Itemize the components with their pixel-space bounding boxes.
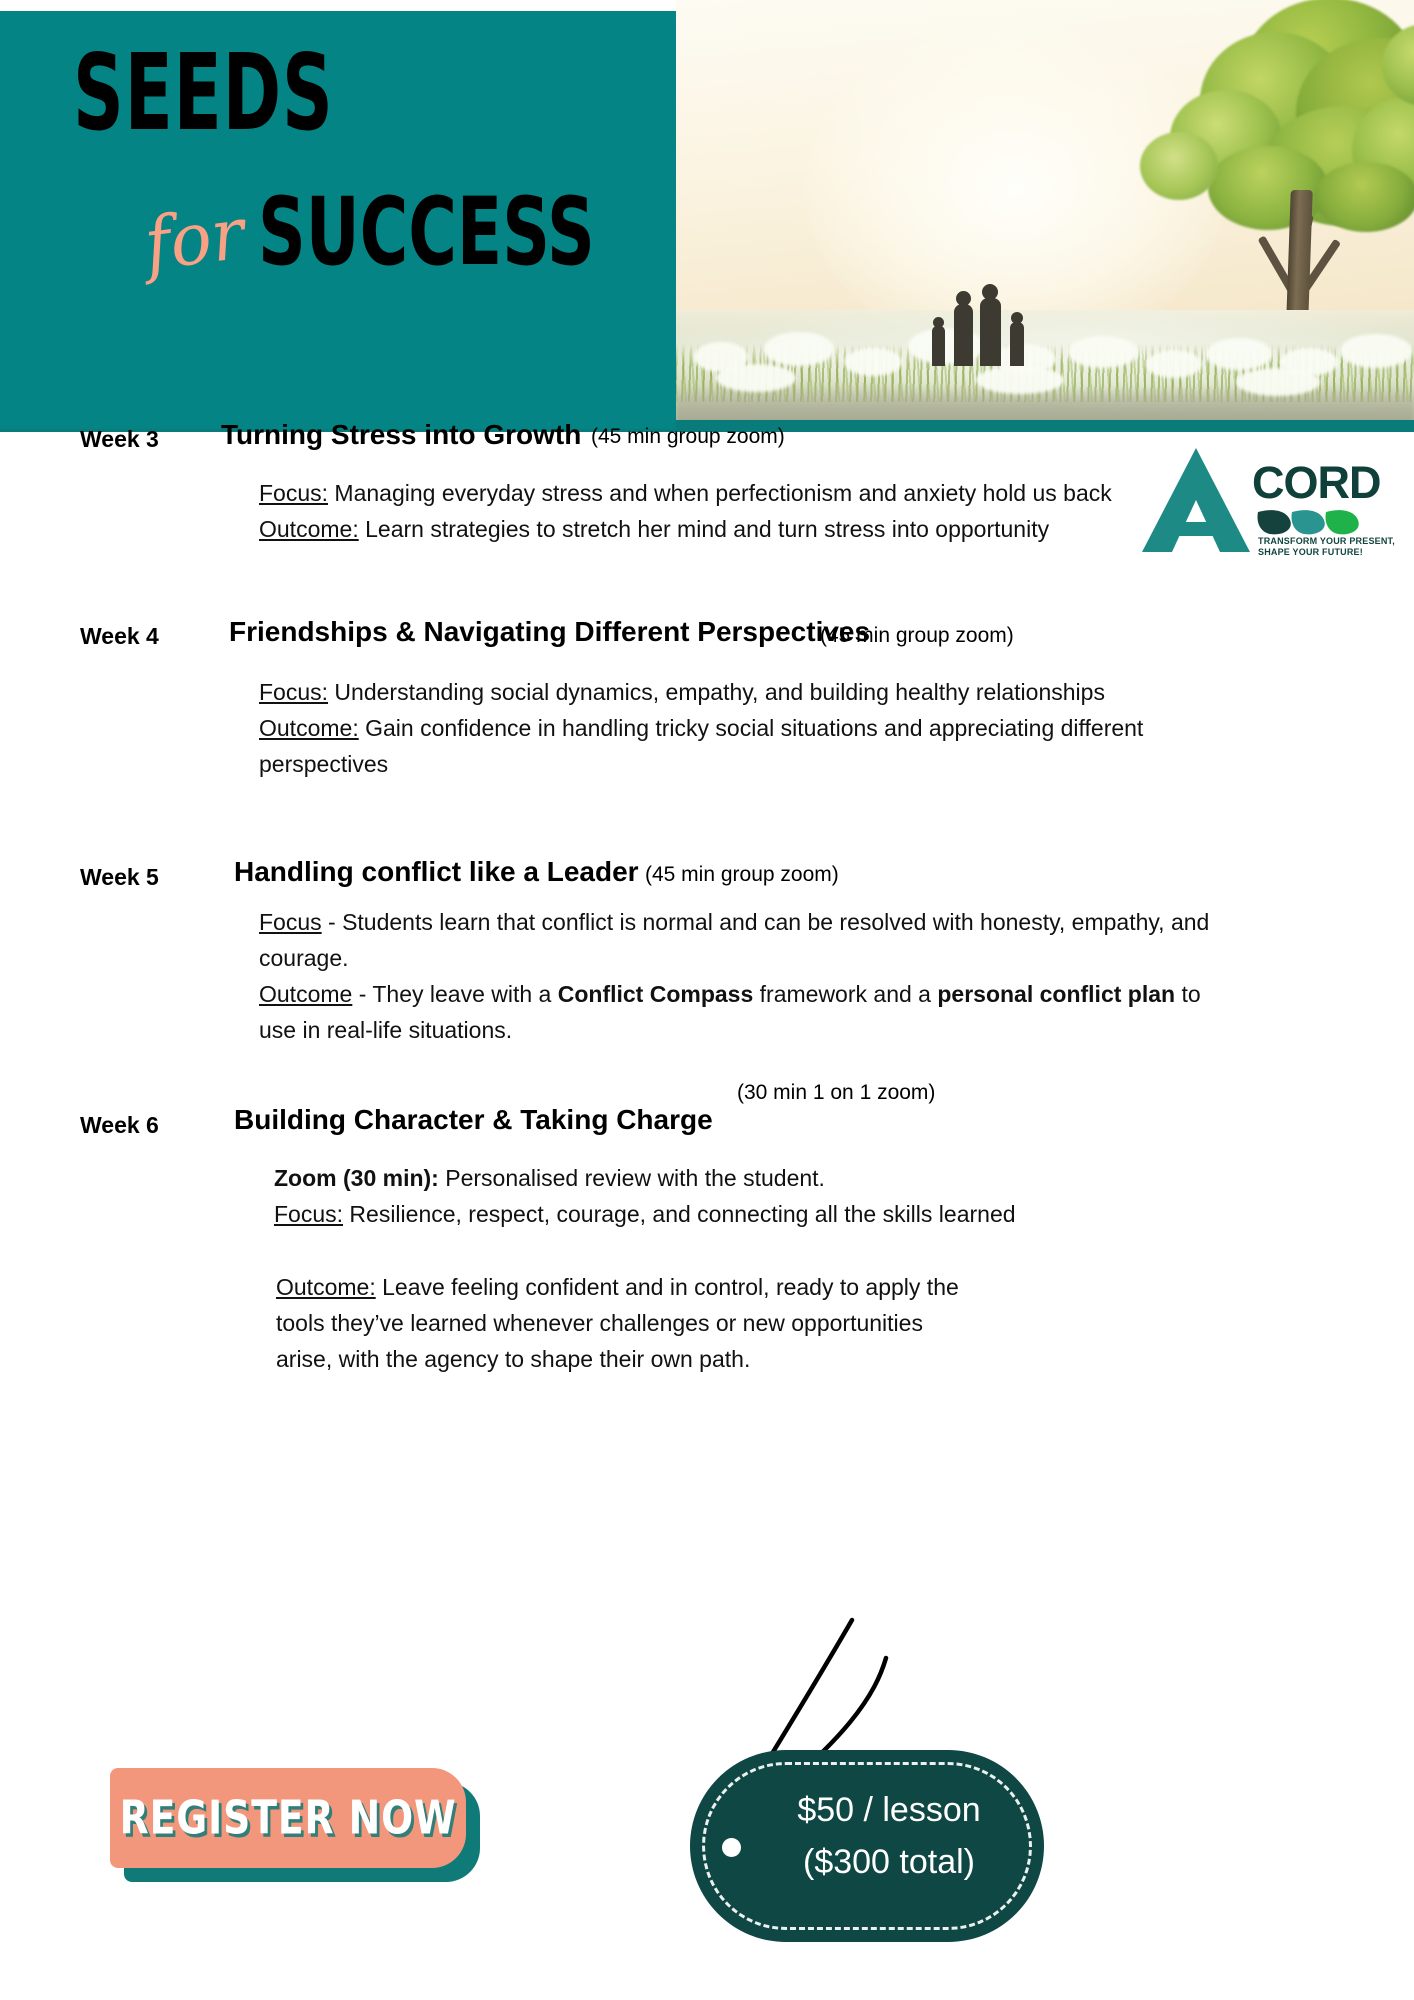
week-6-zoom-text: Personalised review with the student. [439,1165,825,1191]
week-4-focus-text: Understanding social dynamics, empathy, … [328,679,1105,705]
week-5-outcome-bold-a: Conflict Compass [558,981,754,1007]
tree-canopy [1146,0,1414,286]
week-5-label: Week 5 [80,864,159,891]
week-6-zoom-label: Zoom (30 min): [274,1165,439,1191]
register-now-wrap: REGISTER NOW [110,1768,480,1886]
week-5-focus-label: Focus [259,909,322,935]
week-6-meta: (30 min 1 on 1 zoom) [737,1081,935,1105]
price-tag-hole [722,1838,741,1857]
price-tag-wrap: $50 / lesson ($300 total) [690,1600,1250,1980]
week-5-outcome-text-a: - They leave with a [352,981,557,1007]
week-5-outcome-text-b: framework and a [753,981,937,1007]
title-seeds: SEEDS [73,41,334,146]
price-tag-body: $50 / lesson ($300 total) [690,1750,1044,1942]
week-6-body-outcome: Outcome: Leave feeling confident and in … [276,1269,966,1377]
week-3-body: Focus: Managing everyday stress and when… [259,475,1159,547]
week-6-focus-label: Focus: [274,1201,343,1227]
week-block-6: Week 6 Building Character & Taking Charg… [0,1092,1414,1512]
price-total: ($300 total) [748,1836,1030,1888]
week-block-5: Week 5 Handling conflict like a Leader (… [0,842,1414,1092]
week-6-title: Building Character & Taking Charge [234,1104,713,1136]
week-4-focus-label: Focus: [259,679,328,705]
register-now-button[interactable]: REGISTER NOW [110,1768,466,1868]
price-tag-text: $50 / lesson ($300 total) [748,1784,1030,1888]
week-3-meta: (45 min group zoom) [591,425,785,449]
week-4-outcome-label: Outcome: [259,715,359,741]
week-3-focus-label: Focus: [259,480,328,506]
price-per-lesson: $50 / lesson [748,1784,1030,1836]
week-6-label: Week 6 [80,1112,159,1139]
week-5-body: Focus - Students learn that conflict is … [259,904,1219,1048]
week-5-outcome-label: Outcome [259,981,352,1007]
week-3-outcome-label: Outcome: [259,516,359,542]
hero-photo-tree [676,0,1414,428]
meadow-ground [676,310,1414,428]
week-3-label: Week 3 [80,426,159,453]
week-block-3: Week 3 Turning Stress into Growth (45 mi… [0,432,1414,622]
flyer-header: SEEDS for SUCCESS [0,0,1414,432]
title-success: SUCCESS [258,186,595,280]
week-3-outcome-text: Learn strategies to stretch her mind and… [359,516,1049,542]
family-silhouette [924,288,1044,366]
week-6-outcome-text: Leave feeling confident and in control, … [276,1274,959,1372]
week-3-title: Turning Stress into Growth [221,419,581,451]
week-5-meta: (45 min group zoom) [645,863,839,887]
register-now-label: REGISTER NOW [120,1791,457,1845]
week-5-focus-text: - Students learn that conflict is normal… [259,909,1209,971]
week-6-focus-text: Resilience, respect, courage, and connec… [343,1201,1016,1227]
week-5-outcome-bold-b: personal conflict plan [937,981,1175,1007]
week-4-title: Friendships & Navigating Different Persp… [229,616,870,648]
week-4-outcome-text: Gain confidence in handling tricky socia… [259,715,1143,777]
week-block-4: Week 4 Friendships & Navigating Differen… [0,622,1414,842]
week-4-label: Week 4 [80,623,159,650]
week-4-body: Focus: Understanding social dynamics, em… [259,674,1219,782]
week-5-title: Handling conflict like a Leader [234,856,639,888]
week-4-meta: (45 min group zoom) [820,624,1014,648]
title-for-script: for [140,191,249,286]
week-6-body-top: Zoom (30 min): Personalised review with … [274,1160,1234,1232]
week-3-focus-text: Managing everyday stress and when perfec… [328,480,1112,506]
week-6-outcome-label: Outcome: [276,1274,376,1300]
